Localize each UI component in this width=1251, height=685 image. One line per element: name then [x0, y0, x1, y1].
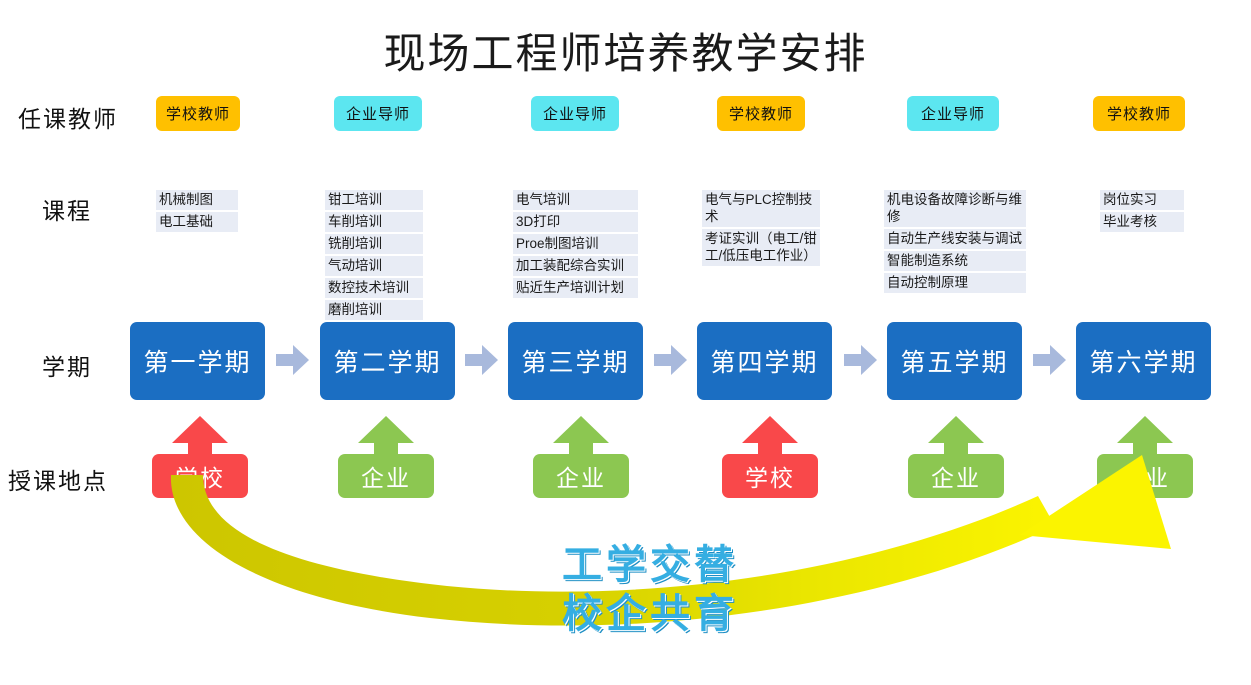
- course-item[interactable]: 贴近生产培训计划: [513, 278, 638, 298]
- place-badge-label: 学校: [745, 459, 795, 493]
- course-item[interactable]: 电气与PLC控制技术: [702, 190, 820, 227]
- place-group-6: 企业: [1097, 416, 1193, 502]
- course-item[interactable]: 自动控制原理: [884, 273, 1026, 293]
- place-badge-6[interactable]: 企业: [1097, 454, 1193, 498]
- place-group-4: 学校: [722, 416, 818, 502]
- teacher-badge-label: 企业导师: [543, 103, 607, 124]
- place-badge-1[interactable]: 学校: [152, 454, 248, 498]
- teacher-badge-5[interactable]: 企业导师: [907, 96, 999, 131]
- semester-arrow-icon-1: [276, 345, 309, 375]
- place-badge-label: 企业: [361, 459, 411, 493]
- semester-arrow-icon-3: [654, 345, 687, 375]
- semester-label: 第五学期: [900, 343, 1008, 379]
- diagram-canvas: 现场工程师培养教学安排 任课教师 课程 学期 授课地点 学校教师企业导师企业导师…: [0, 0, 1251, 685]
- course-column-5: 机电设备故障诊断与维修自动生产线安装与调试智能制造系统自动控制原理: [884, 190, 1026, 295]
- place-badge-label: 企业: [556, 459, 606, 493]
- semester-box-3[interactable]: 第三学期: [508, 322, 643, 400]
- place-group-2: 企业: [338, 416, 434, 502]
- slogan-line-1: 工学交替: [470, 540, 830, 589]
- semester-box-5[interactable]: 第五学期: [887, 322, 1022, 400]
- place-badge-label: 企业: [931, 459, 981, 493]
- teacher-badge-3[interactable]: 企业导师: [531, 96, 619, 131]
- semester-box-2[interactable]: 第二学期: [320, 322, 455, 400]
- place-group-1: 学校: [152, 416, 248, 502]
- semester-box-6[interactable]: 第六学期: [1076, 322, 1211, 400]
- course-item[interactable]: 磨削培训: [325, 300, 423, 320]
- row-label-semester: 学期: [42, 348, 92, 382]
- slogan-text: 工学交替 校企共育: [470, 540, 830, 638]
- teacher-badge-label: 学校教师: [166, 103, 230, 124]
- course-item[interactable]: 机械制图: [156, 190, 238, 210]
- course-item[interactable]: 机电设备故障诊断与维修: [884, 190, 1026, 227]
- course-item[interactable]: 车削培训: [325, 212, 423, 232]
- course-item[interactable]: 钳工培训: [325, 190, 423, 210]
- course-column-1: 机械制图电工基础: [156, 190, 238, 234]
- course-item[interactable]: 铣削培训: [325, 234, 423, 254]
- place-badge-label: 企业: [1120, 459, 1170, 493]
- semester-label: 第二学期: [333, 343, 441, 379]
- page-title: 现场工程师培养教学安排: [0, 20, 1251, 81]
- semester-arrow-icon-2: [465, 345, 498, 375]
- course-column-2: 钳工培训车削培训铣削培训气动培训数控技术培训磨削培训: [325, 190, 423, 322]
- place-badge-label: 学校: [175, 459, 225, 493]
- course-item[interactable]: 智能制造系统: [884, 251, 1026, 271]
- teacher-badge-4[interactable]: 学校教师: [717, 96, 805, 131]
- slogan-line-2: 校企共育: [470, 589, 830, 638]
- place-group-5: 企业: [908, 416, 1004, 502]
- semester-label: 第三学期: [521, 343, 629, 379]
- place-badge-4[interactable]: 学校: [722, 454, 818, 498]
- row-label-teacher: 任课教师: [18, 100, 118, 134]
- teacher-badge-label: 企业导师: [921, 103, 985, 124]
- row-label-place: 授课地点: [8, 462, 108, 496]
- course-item[interactable]: 自动生产线安装与调试: [884, 229, 1026, 249]
- course-item[interactable]: Proe制图培训: [513, 234, 638, 254]
- semester-label: 第一学期: [143, 343, 251, 379]
- course-column-4: 电气与PLC控制技术考证实训（电工/钳 工/低压电工作业）: [702, 190, 820, 268]
- place-badge-3[interactable]: 企业: [533, 454, 629, 498]
- course-item[interactable]: 电工基础: [156, 212, 238, 232]
- semester-label: 第四学期: [710, 343, 818, 379]
- course-item[interactable]: 电气培训: [513, 190, 638, 210]
- semester-box-1[interactable]: 第一学期: [130, 322, 265, 400]
- semester-label: 第六学期: [1089, 343, 1197, 379]
- course-item[interactable]: 数控技术培训: [325, 278, 423, 298]
- place-badge-5[interactable]: 企业: [908, 454, 1004, 498]
- course-item[interactable]: 岗位实习: [1100, 190, 1184, 210]
- place-badge-2[interactable]: 企业: [338, 454, 434, 498]
- teacher-badge-6[interactable]: 学校教师: [1093, 96, 1185, 131]
- course-column-3: 电气培训3D打印Proe制图培训加工装配综合实训贴近生产培训计划: [513, 190, 638, 300]
- place-group-3: 企业: [533, 416, 629, 502]
- semester-arrow-icon-4: [844, 345, 877, 375]
- semester-box-4[interactable]: 第四学期: [697, 322, 832, 400]
- course-item[interactable]: 毕业考核: [1100, 212, 1184, 232]
- course-item[interactable]: 考证实训（电工/钳 工/低压电工作业）: [702, 229, 820, 266]
- teacher-badge-2[interactable]: 企业导师: [334, 96, 422, 131]
- teacher-badge-label: 学校教师: [729, 103, 793, 124]
- teacher-badge-1[interactable]: 学校教师: [156, 96, 240, 131]
- course-item[interactable]: 3D打印: [513, 212, 638, 232]
- teacher-badge-label: 学校教师: [1107, 103, 1171, 124]
- course-item[interactable]: 气动培训: [325, 256, 423, 276]
- teacher-badge-label: 企业导师: [346, 103, 410, 124]
- semester-arrow-icon-5: [1033, 345, 1066, 375]
- course-item[interactable]: 加工装配综合实训: [513, 256, 638, 276]
- course-column-6: 岗位实习毕业考核: [1100, 190, 1184, 234]
- row-label-course: 课程: [42, 192, 92, 226]
